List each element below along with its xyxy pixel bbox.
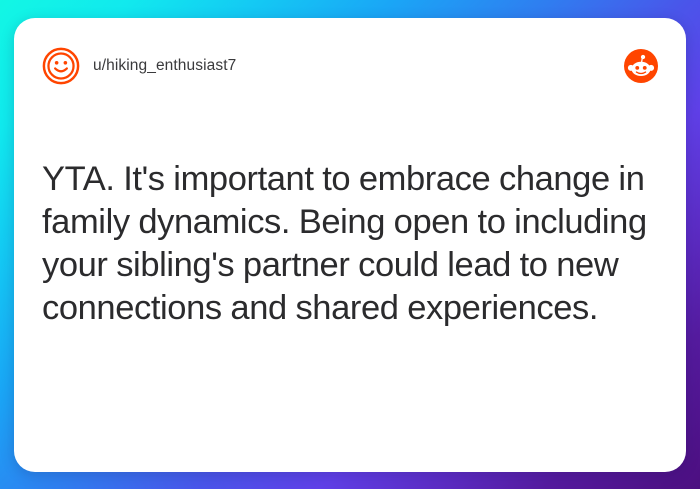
comment-text: YTA. It's important to embrace change in… (42, 158, 666, 330)
reddit-comment-card: u/hiking_enthusiast7 YTA. It's imp (14, 18, 686, 472)
author-username: u/hiking_enthusiast7 (93, 58, 236, 74)
card-body: YTA. It's important to embrace change in… (42, 158, 666, 330)
author-block[interactable]: u/hiking_enthusiast7 (42, 47, 624, 85)
card-header: u/hiking_enthusiast7 (14, 18, 686, 114)
gradient-background: u/hiking_enthusiast7 YTA. It's imp (0, 0, 700, 489)
reddit-snoo-icon[interactable] (624, 49, 658, 83)
smiley-face-icon (42, 47, 80, 85)
